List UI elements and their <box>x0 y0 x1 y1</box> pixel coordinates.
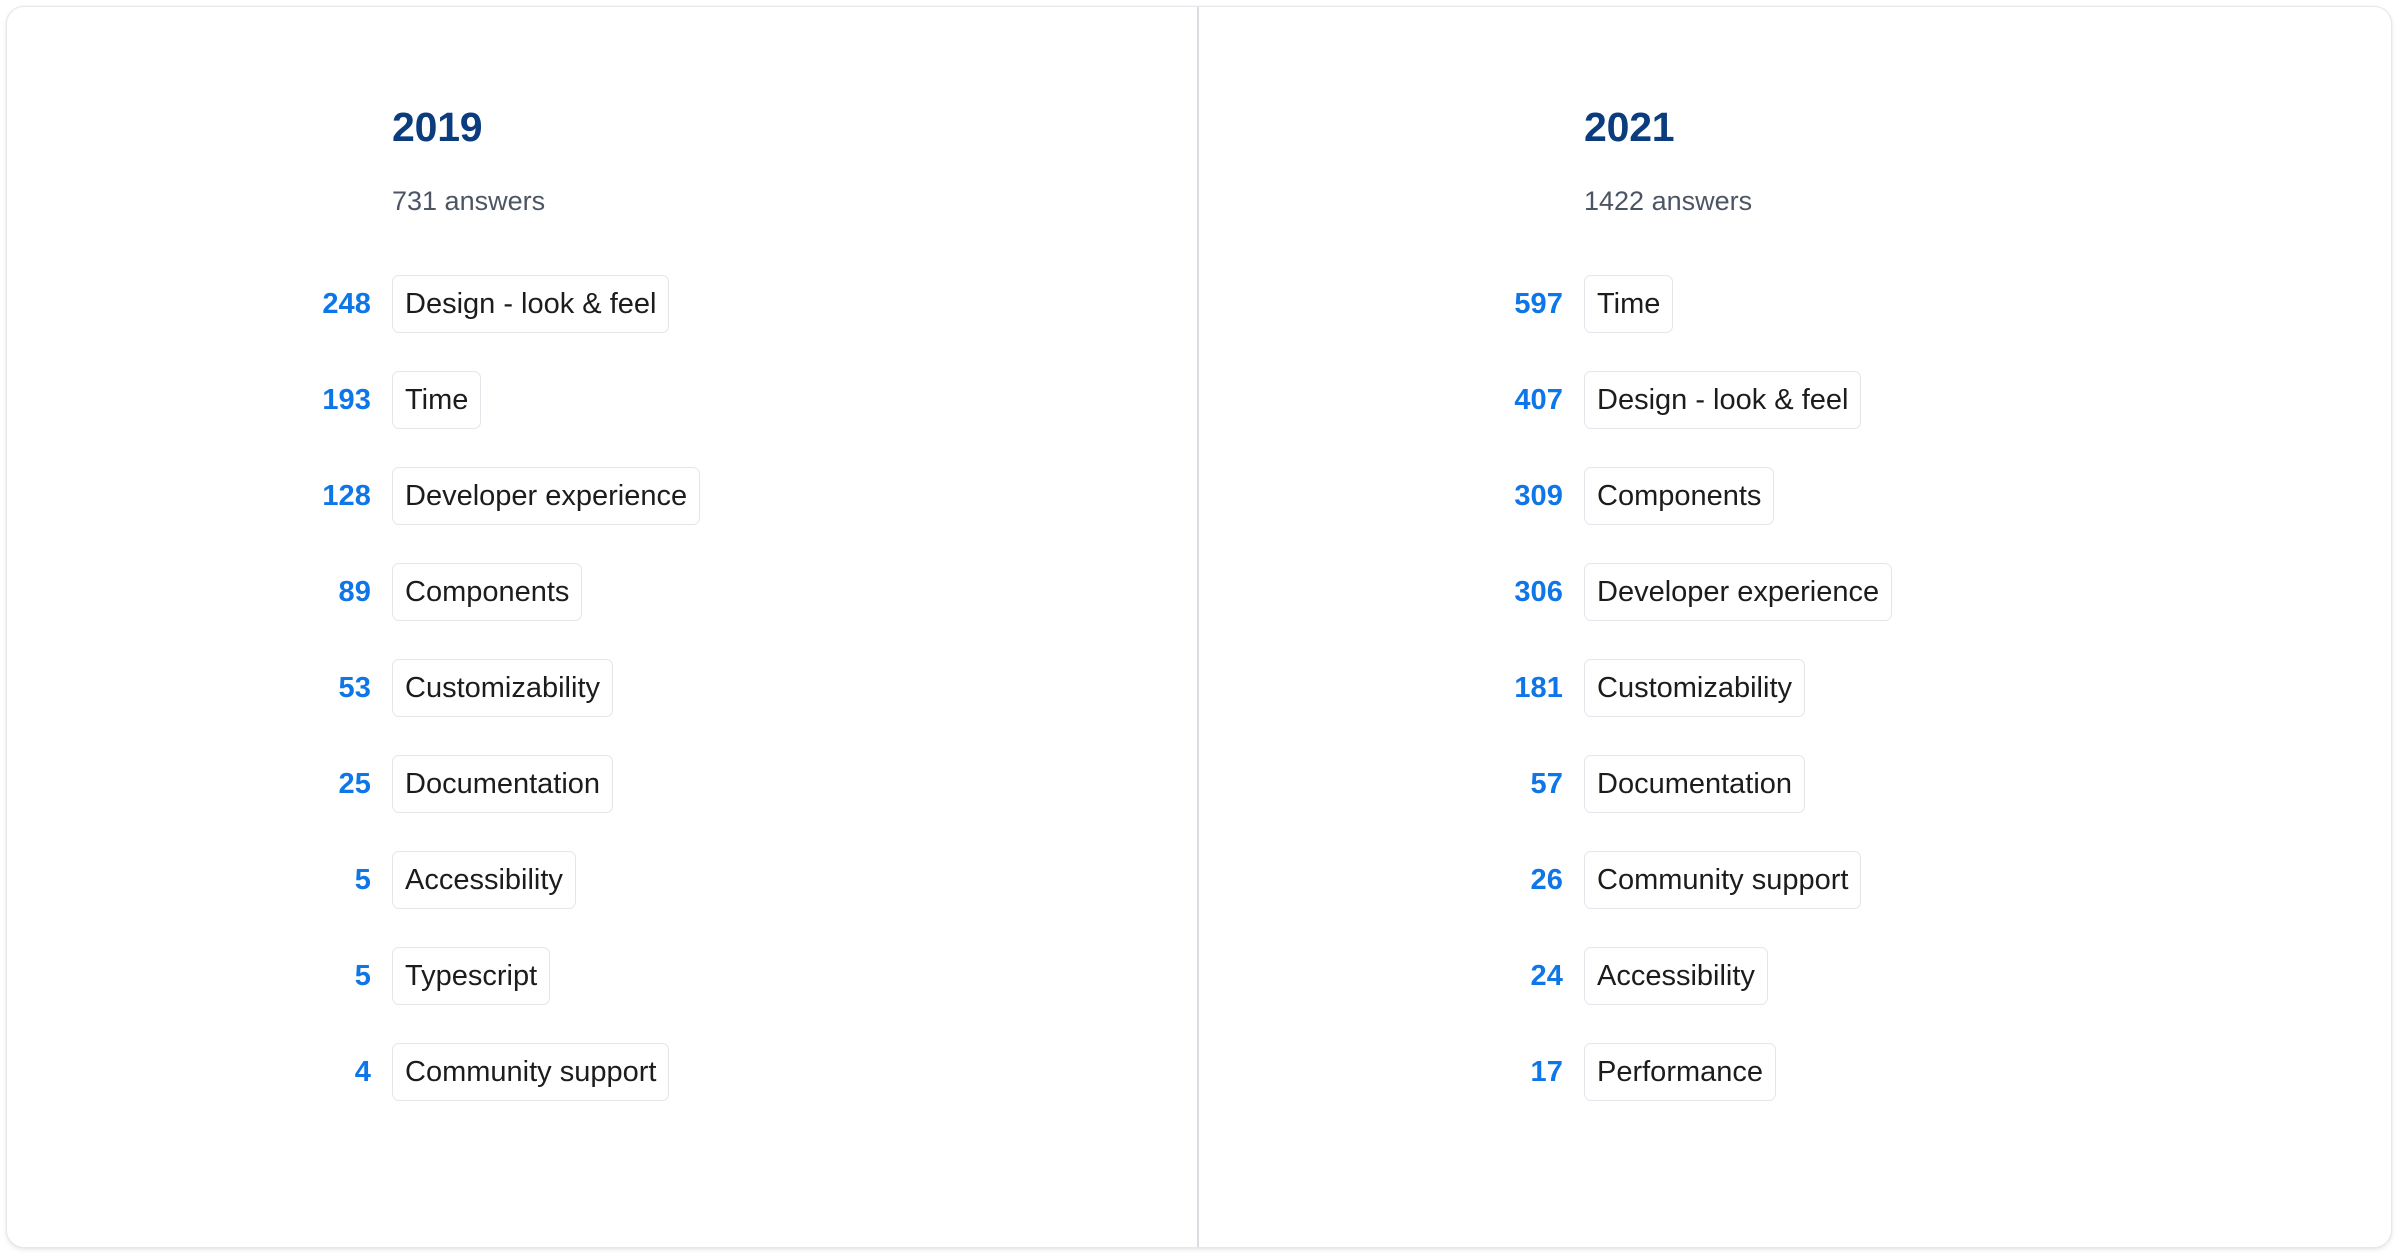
answer-count: 306 <box>1199 578 1584 607</box>
answer-row: 597 Time <box>1199 256 2391 352</box>
answer-count: 407 <box>1199 386 1584 415</box>
answer-count: 57 <box>1199 770 1584 799</box>
year-title: 2019 <box>392 107 1197 148</box>
answer-tag[interactable]: Typescript <box>392 947 550 1005</box>
answer-count: 4 <box>7 1058 392 1087</box>
answers-count: 731 answers <box>392 148 1197 215</box>
answer-count: 181 <box>1199 674 1584 703</box>
answer-count: 128 <box>7 482 392 511</box>
answer-count: 5 <box>7 866 392 895</box>
answer-count: 53 <box>7 674 392 703</box>
answer-tag[interactable]: Accessibility <box>392 851 576 909</box>
panel-header: 2021 1422 answers <box>1584 7 2391 215</box>
answer-list: 248 Design - look & feel 193 Time 128 De… <box>7 256 1197 1120</box>
answer-tag[interactable]: Time <box>392 371 481 429</box>
answer-row: 248 Design - look & feel <box>7 256 1197 352</box>
answer-row: 5 Typescript <box>7 928 1197 1024</box>
answer-tag[interactable]: Accessibility <box>1584 947 1768 1005</box>
answer-row: 25 Documentation <box>7 736 1197 832</box>
answer-tag[interactable]: Documentation <box>392 755 613 813</box>
answer-count: 5 <box>7 962 392 991</box>
year-title: 2021 <box>1584 107 2391 148</box>
answer-tag[interactable]: Customizability <box>392 659 613 717</box>
answer-tag[interactable]: Customizability <box>1584 659 1805 717</box>
answer-row: 89 Components <box>7 544 1197 640</box>
answer-row: 4 Community support <box>7 1024 1197 1120</box>
answer-count: 193 <box>7 386 392 415</box>
answer-tag[interactable]: Developer experience <box>1584 563 1892 621</box>
answer-tag[interactable]: Components <box>392 563 582 621</box>
answer-row: 24 Accessibility <box>1199 928 2391 1024</box>
answer-row: 128 Developer experience <box>7 448 1197 544</box>
answer-count: 89 <box>7 578 392 607</box>
answer-tag[interactable]: Components <box>1584 467 1774 525</box>
answer-row: 193 Time <box>7 352 1197 448</box>
answer-row: 53 Customizability <box>7 640 1197 736</box>
answer-row: 17 Performance <box>1199 1024 2391 1120</box>
answers-count: 1422 answers <box>1584 148 2391 215</box>
answer-count: 248 <box>7 290 392 319</box>
answer-count: 25 <box>7 770 392 799</box>
answer-tag[interactable]: Documentation <box>1584 755 1805 813</box>
answer-tag[interactable]: Developer experience <box>392 467 700 525</box>
answer-tag[interactable]: Design - look & feel <box>392 275 669 333</box>
answer-count: 597 <box>1199 290 1584 319</box>
answer-row: 309 Components <box>1199 448 2391 544</box>
answer-row: 5 Accessibility <box>7 832 1197 928</box>
panel-2019: 2019 731 answers 248 Design - look & fee… <box>7 7 1199 1247</box>
answer-row: 57 Documentation <box>1199 736 2391 832</box>
answer-count: 26 <box>1199 866 1584 895</box>
answer-row: 26 Community support <box>1199 832 2391 928</box>
answer-tag[interactable]: Community support <box>392 1043 669 1101</box>
answer-count: 24 <box>1199 962 1584 991</box>
answer-count: 17 <box>1199 1058 1584 1087</box>
panel-2021: 2021 1422 answers 597 Time 407 Design - … <box>1199 7 2391 1247</box>
answer-row: 181 Customizability <box>1199 640 2391 736</box>
answer-tag[interactable]: Design - look & feel <box>1584 371 1861 429</box>
answer-count: 309 <box>1199 482 1584 511</box>
panel-header: 2019 731 answers <box>392 7 1197 215</box>
answer-row: 407 Design - look & feel <box>1199 352 2391 448</box>
answer-tag[interactable]: Performance <box>1584 1043 1776 1101</box>
comparison-card: 2019 731 answers 248 Design - look & fee… <box>6 6 2392 1248</box>
answer-tag[interactable]: Time <box>1584 275 1673 333</box>
answer-tag[interactable]: Community support <box>1584 851 1861 909</box>
answer-list: 597 Time 407 Design - look & feel 309 Co… <box>1199 256 2391 1120</box>
answer-row: 306 Developer experience <box>1199 544 2391 640</box>
